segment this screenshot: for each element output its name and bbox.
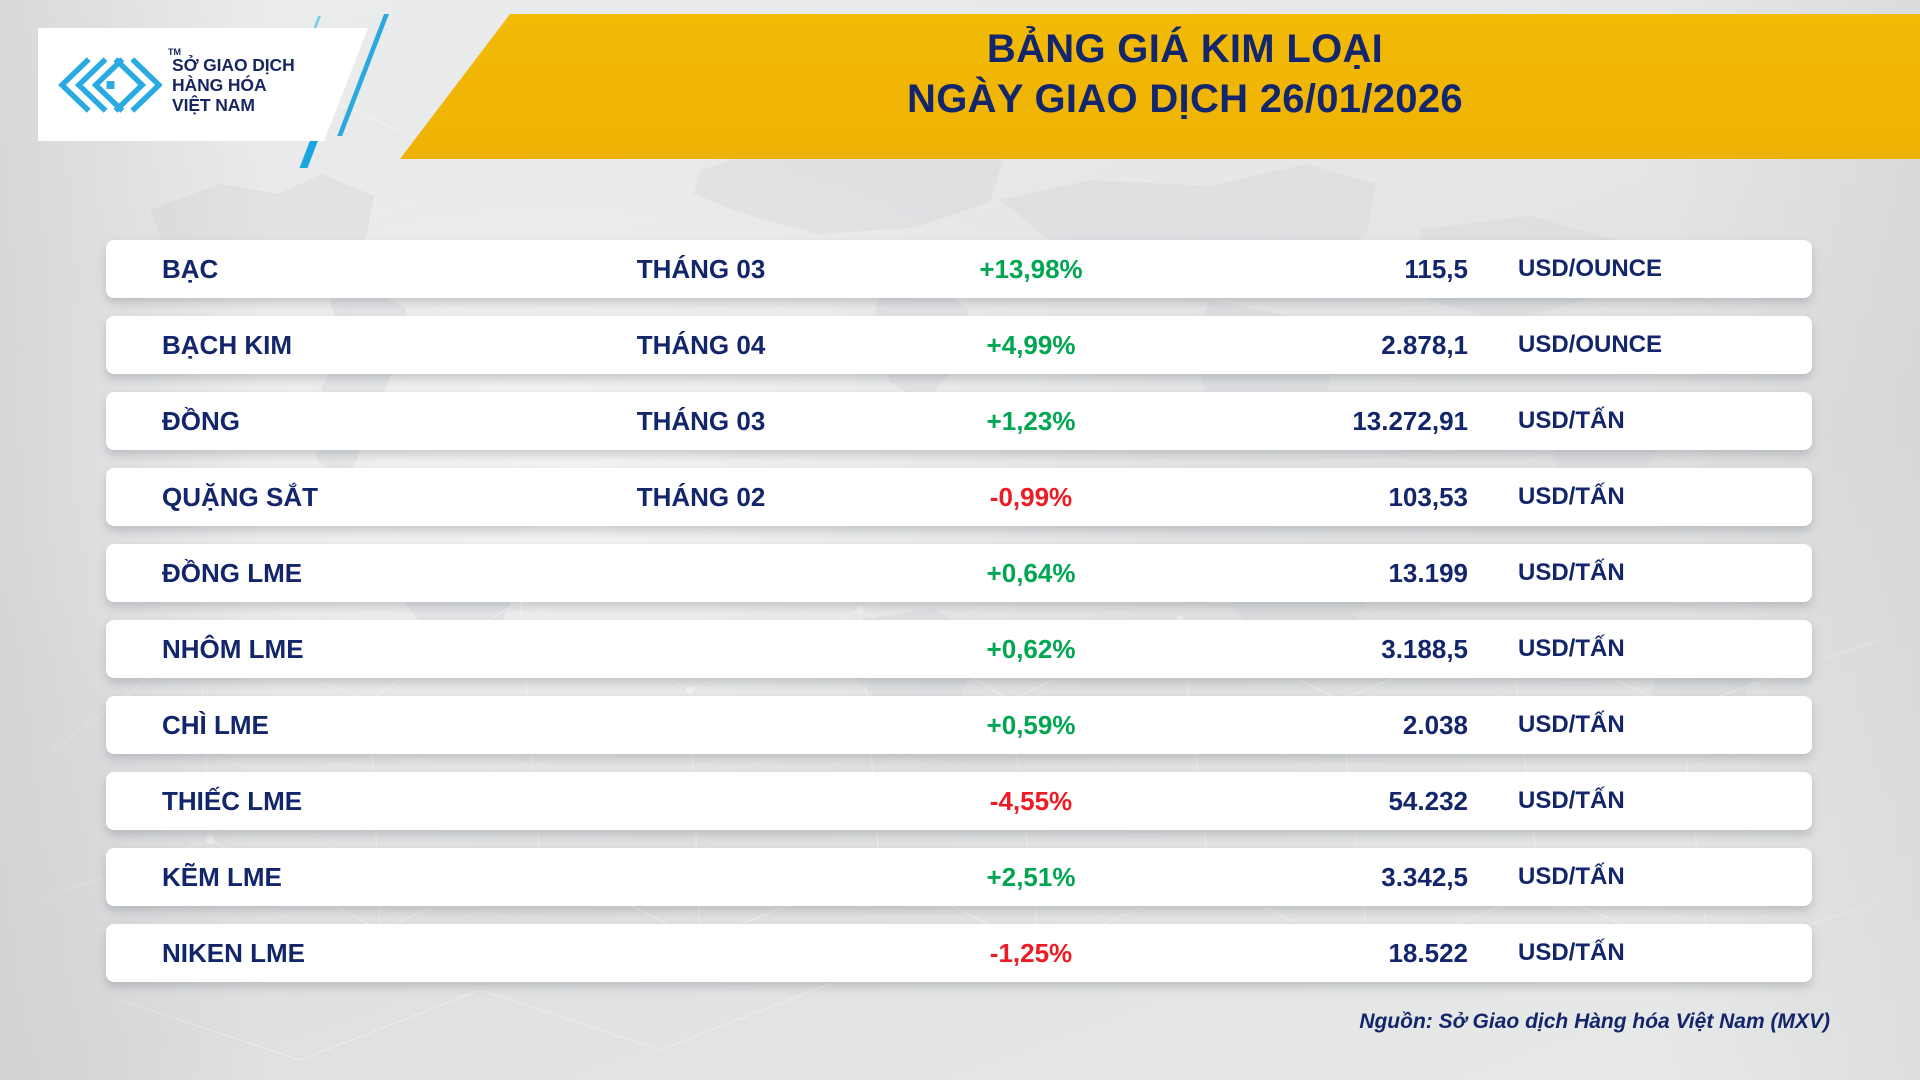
row-change-percent: -1,25% [866,938,1196,969]
row-contract-month: THÁNG 03 [536,406,866,437]
row-change-percent: +2,51% [866,862,1196,893]
row-contract-month: THÁNG 02 [536,482,866,513]
table-row[interactable]: ĐỒNG LME+0,64%13.199USD/TẤN [106,544,1812,602]
row-unit: USD/TẤN [1496,559,1756,587]
row-change-percent: +1,23% [866,406,1196,437]
table-row[interactable]: KẼM LME+2,51%3.342,5USD/TẤN [106,848,1812,906]
table-row[interactable]: QUẶNG SẮTTHÁNG 02-0,99%103,53USD/TẤN [106,468,1812,526]
price-board-page: TM SỞ GIAO DỊCH HÀNG HÓA VIỆT NAM BẢNG G… [0,0,1920,1080]
logo-line-2: HÀNG HÓA [172,75,295,95]
mxv-logo-icon [58,54,162,116]
row-change-percent: +4,99% [866,330,1196,361]
page-subtitle-date: NGÀY GIAO DỊCH 26/01/2026 [540,74,1830,124]
row-price: 13.272,91 [1196,406,1496,437]
row-price: 3.342,5 [1196,862,1496,893]
row-price: 2.878,1 [1196,330,1496,361]
logo-plate: TM SỞ GIAO DỊCH HÀNG HÓA VIỆT NAM [38,28,368,141]
row-price: 18.522 [1196,938,1496,969]
row-unit: USD/TẤN [1496,787,1756,815]
row-change-percent: +13,98% [866,254,1196,285]
trademark-label: TM [168,47,181,57]
row-commodity-name: QUẶNG SẮT [106,482,536,513]
page-header: TM SỞ GIAO DỊCH HÀNG HÓA VIỆT NAM BẢNG G… [0,0,1920,172]
row-commodity-name: NIKEN LME [106,938,536,969]
row-unit: USD/TẤN [1496,863,1756,891]
row-unit: USD/TẤN [1496,939,1756,967]
row-commodity-name: ĐỒNG [106,406,536,437]
row-commodity-name: THIẾC LME [106,786,536,817]
row-commodity-name: ĐỒNG LME [106,558,536,589]
row-price: 115,5 [1196,254,1496,285]
row-price: 13.199 [1196,558,1496,589]
row-change-percent: -4,55% [866,786,1196,817]
row-commodity-name: BẠC [106,254,536,285]
row-unit: USD/TẤN [1496,635,1756,663]
row-change-percent: -0,99% [866,482,1196,513]
page-title: BẢNG GIÁ KIM LOẠI [540,24,1830,74]
logo-line-3: VIỆT NAM [172,95,295,115]
table-row[interactable]: BẠCH KIMTHÁNG 04+4,99%2.878,1USD/OUNCE [106,316,1812,374]
row-contract-month: THÁNG 03 [536,254,866,285]
price-table: BẠCTHÁNG 03+13,98%115,5USD/OUNCEBẠCH KIM… [106,240,1812,1000]
row-price: 54.232 [1196,786,1496,817]
table-row[interactable]: NHÔM LME+0,62%3.188,5USD/TẤN [106,620,1812,678]
header-titles: BẢNG GIÁ KIM LOẠI NGÀY GIAO DỊCH 26/01/2… [540,24,1830,124]
logo-line-1: SỞ GIAO DỊCH [172,55,295,75]
table-row[interactable]: BẠCTHÁNG 03+13,98%115,5USD/OUNCE [106,240,1812,298]
row-unit: USD/TẤN [1496,407,1756,435]
table-row[interactable]: CHÌ LME+0,59%2.038USD/TẤN [106,696,1812,754]
row-unit: USD/OUNCE [1496,331,1756,359]
row-price: 3.188,5 [1196,634,1496,665]
row-price: 2.038 [1196,710,1496,741]
table-row[interactable]: NIKEN LME-1,25%18.522USD/TẤN [106,924,1812,982]
row-change-percent: +0,64% [866,558,1196,589]
source-note: Nguồn: Sở Giao dịch Hàng hóa Việt Nam (M… [1359,1010,1830,1034]
row-unit: USD/OUNCE [1496,255,1756,283]
row-change-percent: +0,62% [866,634,1196,665]
row-commodity-name: BẠCH KIM [106,330,536,361]
row-commodity-name: NHÔM LME [106,634,536,665]
table-row[interactable]: ĐỒNGTHÁNG 03+1,23%13.272,91USD/TẤN [106,392,1812,450]
row-unit: USD/TẤN [1496,711,1756,739]
row-change-percent: +0,59% [866,710,1196,741]
logo-wordmark: TM SỞ GIAO DỊCH HÀNG HÓA VIỆT NAM [172,55,295,115]
row-unit: USD/TẤN [1496,483,1756,511]
row-commodity-name: CHÌ LME [106,710,536,741]
row-commodity-name: KẼM LME [106,862,536,893]
row-price: 103,53 [1196,482,1496,513]
row-contract-month: THÁNG 04 [536,330,866,361]
table-row[interactable]: THIẾC LME-4,55%54.232USD/TẤN [106,772,1812,830]
